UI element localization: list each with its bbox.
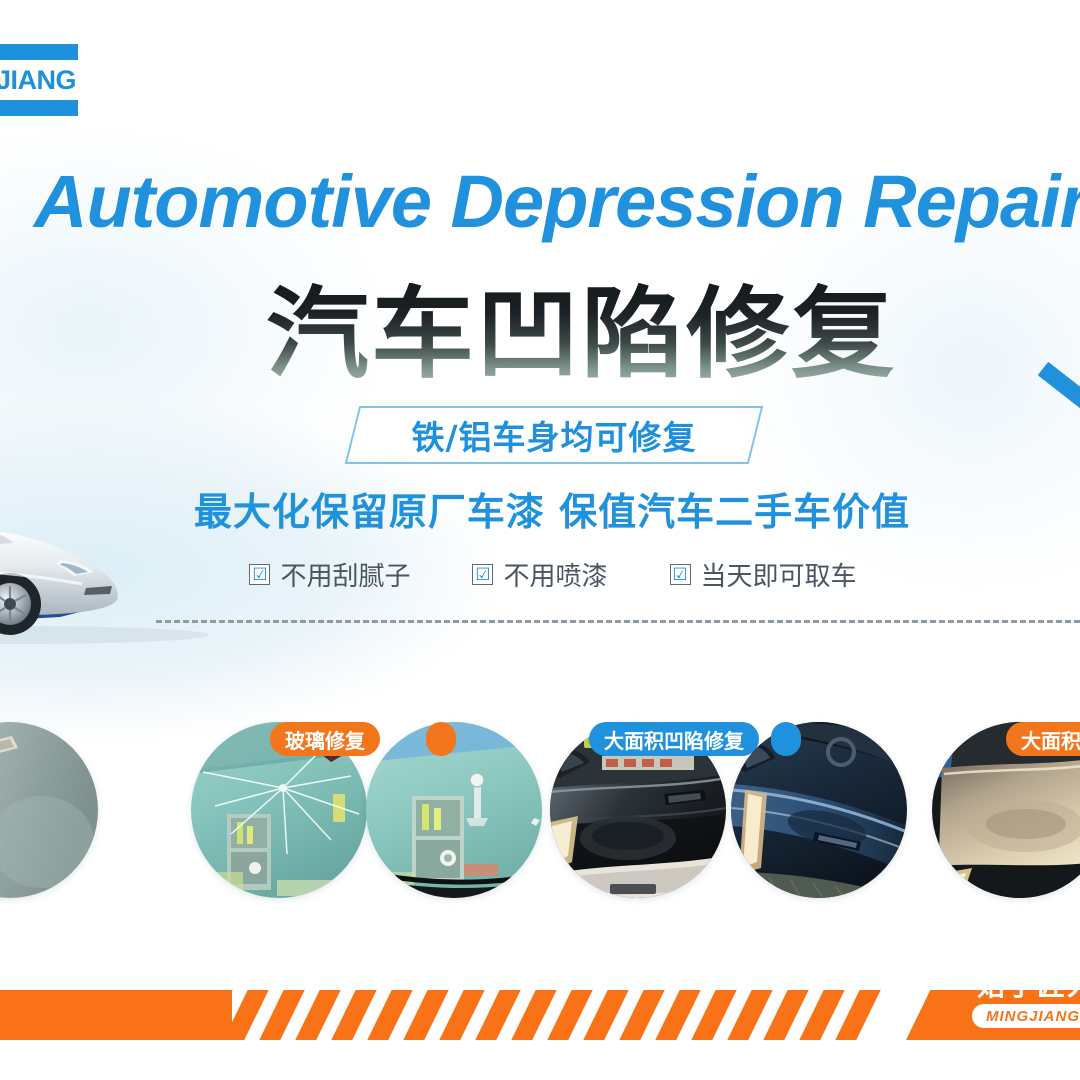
thumbnail-item[interactable]	[731, 722, 907, 898]
logo-bar-bottom	[0, 100, 78, 116]
feature-label: 当天即可取车	[701, 556, 857, 593]
thumbnail-photo-blue-car-door-dent[interactable]	[731, 722, 907, 898]
thumbnail-label-pill[interactable]	[771, 722, 801, 756]
checkbox-checked-icon[interactable]: ☑	[670, 564, 691, 585]
thumbnail-label-pill[interactable]: 玻璃修复	[270, 722, 380, 756]
thumbnail-item[interactable]	[366, 722, 542, 898]
english-headline: Automotive Depression Repair	[34, 161, 1064, 243]
footer-brand-label: MINGJIANG	[986, 1008, 1080, 1025]
checkbox-checked-icon[interactable]: ☑	[472, 564, 493, 585]
thumbnail-photo-car-door-panel-dent[interactable]	[0, 722, 98, 898]
logo-wordmark: GJIANG	[0, 61, 78, 99]
thumbnail-item[interactable]: 大面积	[932, 722, 1080, 898]
thumbnail-item[interactable]: 大面积凹陷修复	[550, 722, 726, 898]
badge-label: 铁/铝车身均可修复	[352, 406, 756, 464]
feature-item[interactable]: ☑ 不用刮腻子	[249, 556, 410, 593]
poster-canvas: GJIANG Automotive Depression Repair 汽车凹陷…	[0, 0, 1080, 1080]
thumbnail-label-pill[interactable]	[426, 722, 456, 756]
footer-brand-pill: MINGJIANG	[972, 1004, 1080, 1028]
thumbnail-gallery: 修复	[0, 668, 1080, 898]
footer-diagonal-stripes	[155, 990, 1080, 1040]
sports-car-illustration	[0, 504, 234, 654]
footer-slogan: 始于匠人	[977, 964, 1080, 1004]
feature-label: 不用喷漆	[503, 556, 607, 593]
feature-label: 不用刮腻子	[280, 556, 410, 593]
thumbnail-item[interactable]: 修复	[0, 722, 98, 898]
logo-bar-top	[0, 44, 78, 60]
brand-logo: GJIANG	[0, 44, 78, 116]
thumbnail-label-pill[interactable]: 大面积	[1006, 722, 1080, 756]
chinese-headline: 汽车凹陷修复	[266, 283, 896, 387]
footer-band: 始于匠人 MINGJIANG	[0, 990, 1080, 1040]
dashed-divider	[156, 620, 1080, 623]
thumbnail-item[interactable]: 玻璃修复	[191, 722, 367, 898]
material-badge: 铁/铝车身均可修复	[352, 406, 756, 464]
checkbox-checked-icon[interactable]: ☑	[249, 564, 270, 585]
feature-item[interactable]: ☑ 不用喷漆	[472, 556, 607, 593]
feature-item[interactable]: ☑ 当天即可取车	[670, 556, 857, 593]
